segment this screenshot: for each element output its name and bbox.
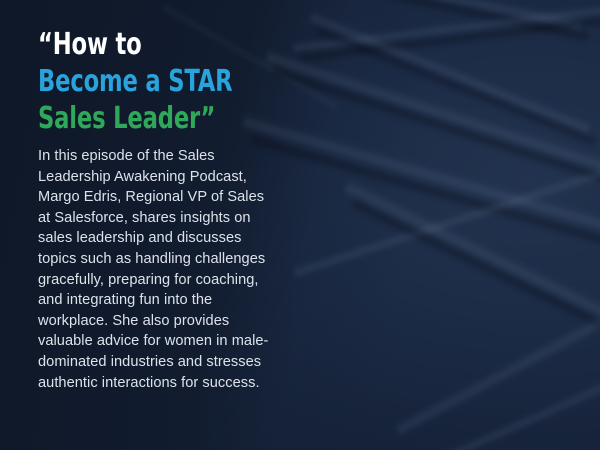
episode-description: In this episode of the Sales Leadership …	[38, 146, 270, 393]
page-title-line-1: “How to	[38, 26, 250, 63]
page-title: “How to Become a STAR Sales Leader”	[38, 26, 250, 137]
page-title-line-3: Sales Leader”	[38, 100, 250, 137]
page-title-line-2: Become a STAR	[38, 63, 250, 100]
slide-canvas: “How to Become a STAR Sales Leader” In t…	[0, 0, 600, 450]
text-content-block: “How to Become a STAR Sales Leader” In t…	[38, 26, 290, 393]
